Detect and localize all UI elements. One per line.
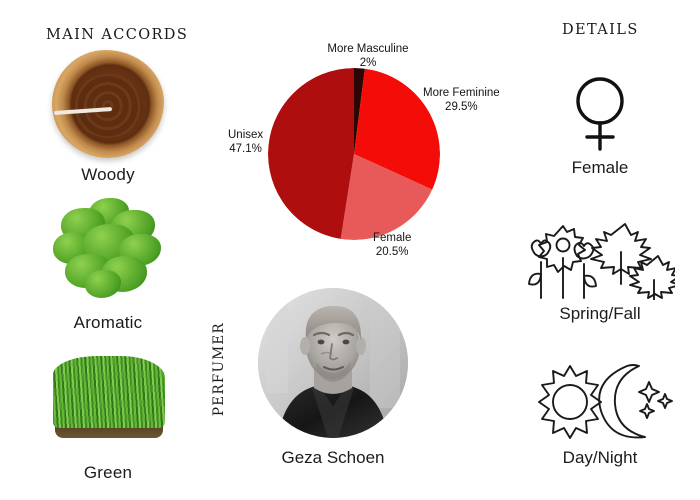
fragrance-info-page: MAIN ACCORDS Woody Aromatic: [0, 0, 700, 500]
gender-pie-chart: [268, 68, 440, 240]
pie-slice: [268, 68, 354, 239]
sun-and-moon-icon: [510, 362, 690, 444]
wood-slice-image: [49, 50, 167, 162]
herb-bunch-image: [49, 198, 167, 310]
accord-item-aromatic[interactable]: Aromatic: [34, 198, 182, 333]
pie-label-more-masculine: More Masculine 2%: [318, 42, 418, 70]
perfumer-name: Geza Schoen: [233, 448, 433, 468]
detail-item-gender[interactable]: Female: [510, 72, 690, 178]
venus-symbol-icon: [510, 72, 690, 154]
accord-label: Green: [34, 463, 182, 483]
detail-item-season[interactable]: Spring/Fall: [510, 218, 690, 324]
details-header: DETAILS: [562, 22, 639, 38]
accord-item-woody[interactable]: Woody: [34, 50, 182, 185]
detail-label: Female: [510, 158, 690, 178]
detail-label: Day/Night: [510, 448, 690, 468]
pie-label-female: Female 20.5%: [373, 231, 411, 259]
grass-patch-image: [49, 348, 167, 460]
pie-svg: [268, 68, 440, 240]
perfumer-portrait-photo[interactable]: [258, 288, 408, 438]
pie-label-more-feminine: More Feminine 29.5%: [423, 86, 500, 114]
detail-label: Spring/Fall: [510, 304, 690, 324]
perfumer-header: PERFUMER: [211, 322, 227, 416]
main-accords-header: MAIN ACCORDS: [46, 27, 188, 43]
detail-item-time-of-day[interactable]: Day/Night: [510, 362, 690, 468]
accord-item-green[interactable]: Green: [34, 348, 182, 483]
accord-label: Woody: [34, 165, 182, 185]
accord-label: Aromatic: [34, 313, 182, 333]
flower-and-leaves-icon: [510, 218, 690, 300]
pie-label-unisex: Unisex 47.1%: [228, 128, 263, 156]
